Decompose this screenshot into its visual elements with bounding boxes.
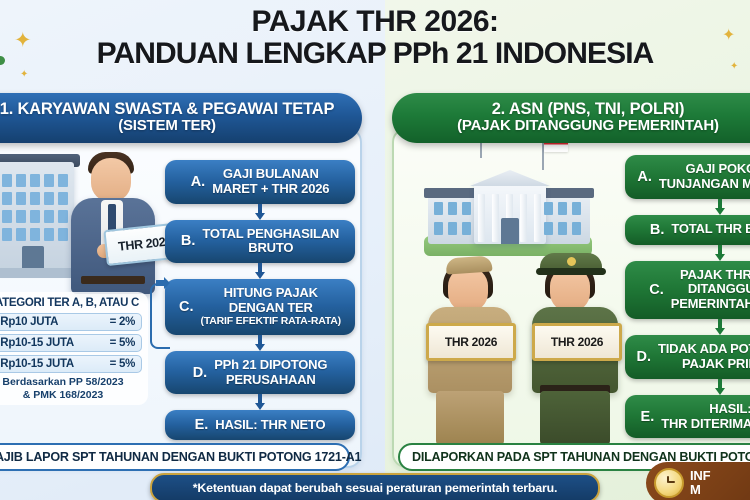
right-step-e-text: HASIL:THR DITERIMA PENUH	[661, 402, 750, 432]
left-step-c[interactable]: C. HITUNG PAJAKDENGAN TER (TARIF EFEKTIF…	[165, 279, 355, 335]
flow-arrow-icon	[625, 245, 750, 261]
right-step-a-letter: A.	[637, 169, 652, 185]
left-step-c-text: HITUNG PAJAKDENGAN TER (TARIF EFEKTIF RA…	[201, 286, 341, 328]
right-step-b-text: TOTAL THR BRUTO	[671, 222, 750, 237]
right-step-c-text: PAJAK THR ASNDITANGGUNGPEMERINTAH (DTP)	[671, 268, 750, 312]
left-step-a-letter: A.	[191, 174, 206, 190]
ter-row-range: > Rp10-15 JUTA	[0, 358, 74, 370]
flow-arrow-icon	[165, 394, 355, 410]
page-title: PAJAK THR 2026: PANDUAN LENGKAP PPh 21 I…	[0, 6, 750, 71]
left-step-e-text: HASIL: THR NETO	[215, 418, 325, 433]
right-step-d[interactable]: D. TIDAK ADA POTONGANPAJAK PRIBADI	[625, 335, 750, 379]
right-steps-flow: A. GAJI POKOK +TUNJANGAN MELEKAT B. TOTA…	[625, 155, 750, 438]
left-header-line-2: (SISTEM TER)	[0, 118, 348, 135]
title-line-2: PANDUAN LENGKAP PPh 21 INDONESIA	[0, 38, 750, 70]
thr-sign-pns: THR 2026	[426, 323, 516, 361]
ter-category-box: KATEGORI TER A, B, ATAU C < Rp10 JUTA = …	[0, 292, 148, 405]
ter-row-rate: = 2%	[110, 316, 135, 328]
ter-row-rate: = 5%	[110, 358, 135, 370]
right-header-line-1: 2. ASN (PNS, TNI, POLRI)	[406, 100, 750, 118]
title-line-1: PAJAK THR 2026:	[0, 6, 750, 38]
left-step-d-text: PPh 21 DIPOTONGPERUSAHAAN	[214, 358, 327, 388]
left-step-a-text: GAJI BULANANMARET + THR 2026	[212, 167, 329, 197]
left-header-line-1: 1. KARYAWAN SWASTA & PEGAWAI TETAP	[0, 100, 348, 118]
disclaimer-note: *Ketentuan dapat berubah sesuai peratura…	[150, 473, 600, 500]
clock-icon	[654, 468, 684, 498]
right-step-d-text: TIDAK ADA POTONGANPAJAK PRIBADI	[658, 342, 750, 372]
ter-row-range: > Rp10-15 JUTA	[0, 337, 74, 349]
right-step-b-letter: B.	[650, 222, 665, 238]
flow-arrow-icon	[165, 204, 355, 220]
right-step-a-text: GAJI POKOK +TUNJANGAN MELEKAT	[659, 162, 750, 192]
left-step-d-letter: D.	[193, 365, 208, 381]
right-step-b[interactable]: B. TOTAL THR BRUTO	[625, 215, 750, 245]
thr-sign-tni-label: THR 2026	[551, 335, 603, 349]
right-step-c-letter: C.	[649, 282, 664, 298]
left-step-d[interactable]: D. PPh 21 DIPOTONGPERUSAHAAN	[165, 351, 355, 395]
ter-row: < Rp10 JUTA = 2%	[0, 313, 142, 331]
ter-box-title: KATEGORI TER A, B, ATAU C	[0, 297, 142, 309]
flow-arrow-icon	[625, 379, 750, 395]
left-step-b-text: TOTAL PENGHASILANBRUTO	[202, 227, 339, 257]
infographic-canvas: ✦ ✦ ✦ ✦ PAJAK THR 2026: PANDUAN LENGKAP …	[0, 0, 750, 500]
ter-row-range: < Rp10 JUTA	[0, 316, 58, 328]
left-step-b-letter: B.	[181, 233, 196, 249]
disclaimer-text: *Ketentuan dapat berubah sesuai peratura…	[162, 481, 588, 495]
right-step-a[interactable]: A. GAJI POKOK +TUNJANGAN MELEKAT	[625, 155, 750, 199]
right-panel-header: 2. ASN (PNS, TNI, POLRI) (PAJAK DITANGGU…	[392, 93, 750, 143]
info-badge-label: INFM	[690, 469, 710, 496]
flow-arrow-icon	[165, 335, 355, 351]
left-step-e[interactable]: E. HASIL: THR NETO	[165, 410, 355, 440]
tni-character-illustration: THR 2026	[520, 245, 632, 445]
ter-arrow-icon	[156, 276, 170, 294]
left-panel-footer: WAJIB LAPOR SPT TAHUNAN DENGAN BUKTI POT…	[0, 443, 350, 471]
left-panel-header: 1. KARYAWAN SWASTA & PEGAWAI TETAP (SIST…	[0, 93, 362, 143]
ter-row: > Rp10-15 JUTA = 5%	[0, 334, 142, 352]
right-step-e[interactable]: E. HASIL:THR DITERIMA PENUH	[625, 395, 750, 439]
right-step-e-letter: E.	[641, 409, 655, 425]
ter-row-rate: = 5%	[110, 337, 135, 349]
right-step-c[interactable]: C. PAJAK THR ASNDITANGGUNGPEMERINTAH (DT…	[625, 261, 750, 319]
right-header-line-2: (PAJAK DITANGGUNG PEMERINTAH)	[406, 118, 750, 135]
thr-sign-tni: THR 2026	[532, 323, 622, 361]
ter-box-note: Berdasarkan PP 58/2023& PMK 168/2023	[0, 376, 142, 401]
ter-row: > Rp10-15 JUTA = 5%	[0, 355, 142, 373]
left-step-e-letter: E.	[195, 417, 209, 433]
thr-sign-pns-label: THR 2026	[445, 335, 497, 349]
flow-arrow-icon	[165, 263, 355, 279]
left-step-c-letter: C.	[179, 299, 194, 315]
left-footer-text: WAJIB LAPOR SPT TAHUNAN DENGAN BUKTI POT…	[0, 450, 336, 464]
left-step-a[interactable]: A. GAJI BULANANMARET + THR 2026	[165, 160, 355, 204]
flow-arrow-icon	[625, 199, 750, 215]
left-step-b[interactable]: B. TOTAL PENGHASILANBRUTO	[165, 220, 355, 264]
info-badge[interactable]: INFM	[646, 462, 750, 500]
left-steps-flow: A. GAJI BULANANMARET + THR 2026 B. TOTAL…	[165, 160, 355, 440]
pns-character-illustration: THR 2026	[418, 245, 522, 445]
right-step-d-letter: D.	[637, 349, 652, 365]
flow-arrow-icon	[625, 319, 750, 335]
